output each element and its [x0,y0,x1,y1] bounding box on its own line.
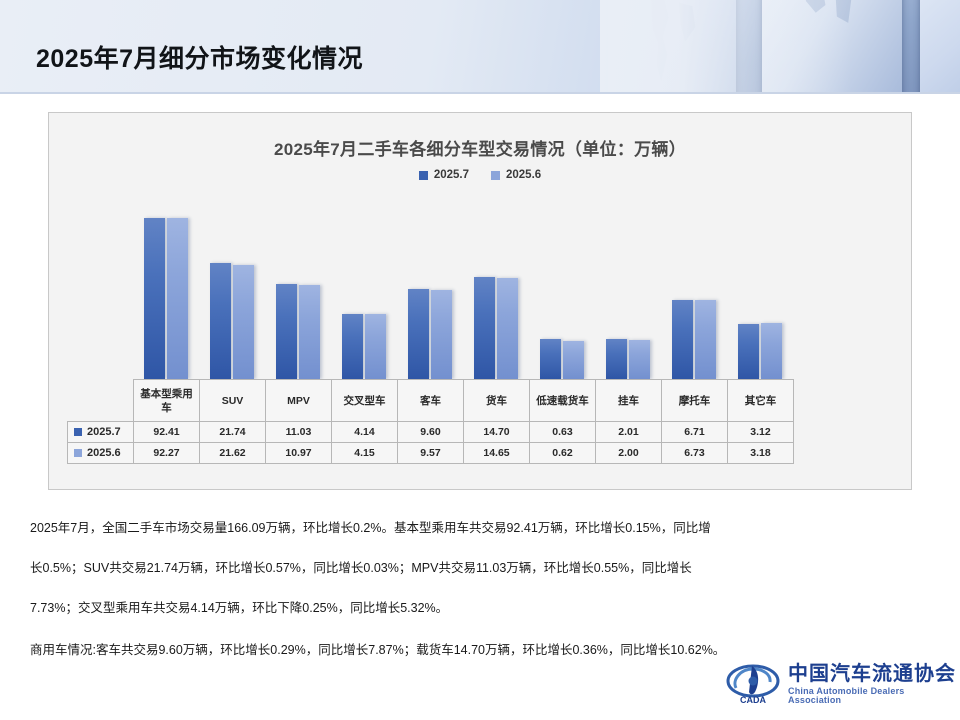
bar-2025-6[interactable] [233,265,254,379]
chart-panel: 2025年7月二手车各细分车型交易情况（单位：万辆） 2025.7 2025.6… [48,112,912,490]
bar-2025-6[interactable] [761,323,782,379]
table-cell-value: 0.62 [530,443,596,464]
table-column-header: 客车 [398,380,464,422]
summary-line-1: 2025年7月，全国二手车市场交易量166.09万辆，环比增长0.2%。基本型乘… [30,508,930,548]
table-cell-value: 3.12 [728,422,794,443]
table-column-header: MPV [266,380,332,422]
bar-2025-7[interactable] [606,339,627,379]
chart-legend: 2025.7 2025.6 [49,169,911,181]
header-divider [0,92,960,94]
series-swatch-icon [74,428,82,436]
bar-2025-6[interactable] [497,278,518,379]
legend-item-2025-6[interactable]: 2025.6 [491,169,541,181]
legend-label: 2025.7 [434,169,469,181]
bar-2025-6[interactable] [167,218,188,379]
table-cell-value: 10.97 [266,443,332,464]
chart-plot-area [133,201,893,379]
bar-group [265,201,331,379]
table-cell-value: 4.15 [332,443,398,464]
table-cell-value: 92.27 [134,443,200,464]
cada-emblem-icon: CADA [726,662,780,706]
chart-title: 2025年7月二手车各细分车型交易情况（单位：万辆） [49,135,911,160]
page-header: 2025年7月细分市场变化情况 [0,0,960,92]
table-row: 2025.692.2721.6210.974.159.5714.650.622.… [68,443,794,464]
bar-2025-7[interactable] [144,218,165,379]
header-decoration-image [600,0,960,92]
bar-2025-6[interactable] [695,300,716,379]
svg-text:CADA: CADA [740,695,766,705]
table-cell-value: 3.18 [728,443,794,464]
table-column-header: SUV [200,380,266,422]
chart-data-table: 基本型乘用车SUVMPV交叉型车客车货车低速载货车挂车摩托车其它车2025.79… [67,379,794,464]
bar-2025-7[interactable] [474,277,495,379]
bar-group [199,201,265,379]
table-row-header: 2025.6 [68,443,134,464]
bar-group [463,201,529,379]
table-cell-value: 4.14 [332,422,398,443]
bar-2025-7[interactable] [342,314,363,379]
series-swatch-icon [74,449,82,457]
table-column-header: 其它车 [728,380,794,422]
table-cell-value: 9.57 [398,443,464,464]
summary-text: 2025年7月，全国二手车市场交易量166.09万辆，环比增长0.2%。基本型乘… [30,508,930,670]
legend-swatch-icon [419,171,428,180]
bar-group [331,201,397,379]
table-cell-value: 2.00 [596,443,662,464]
summary-line-3: 7.73%；交叉型乘用车共交易4.14万辆，环比下降0.25%，同比增长5.32… [30,588,930,628]
table-cell-value: 11.03 [266,422,332,443]
legend-label: 2025.6 [506,169,541,181]
bar-2025-6[interactable] [629,340,650,379]
table-cell-value: 2.01 [596,422,662,443]
bar-2025-6[interactable] [299,285,320,379]
bar-group [595,201,661,379]
table-cell-value: 6.73 [662,443,728,464]
header-gradient-overlay [600,0,960,92]
table-column-header: 货车 [464,380,530,422]
table-column-header: 挂车 [596,380,662,422]
table-cell-value: 21.62 [200,443,266,464]
bar-2025-7[interactable] [672,300,693,379]
bar-2025-6[interactable] [563,341,584,379]
bar-2025-7[interactable] [276,284,297,379]
table-cell-value: 9.60 [398,422,464,443]
bar-2025-7[interactable] [408,289,429,379]
bar-2025-7[interactable] [210,263,231,379]
bar-group [661,201,727,379]
table-cell-value: 0.63 [530,422,596,443]
bar-2025-7[interactable] [738,324,759,379]
legend-item-2025-7[interactable]: 2025.7 [419,169,469,181]
logo-english-name: China Automobile Dealers Association [788,687,960,705]
logo-wordmark: 中国汽车流通协会 China Automobile Dealers Associ… [788,664,960,705]
series-label: 2025.6 [87,447,121,459]
cada-logo: CADA 中国汽车流通协会 China Automobile Dealers A… [726,662,960,706]
series-label: 2025.7 [87,426,121,438]
table-row: 2025.792.4121.7411.034.149.6014.700.632.… [68,422,794,443]
table-column-header: 交叉型车 [332,380,398,422]
table-cell-value: 14.70 [464,422,530,443]
bar-2025-7[interactable] [540,339,561,379]
bar-2025-6[interactable] [365,314,386,379]
table-column-header: 低速载货车 [530,380,596,422]
table-cell-value: 92.41 [134,422,200,443]
bar-group [133,201,199,379]
table-cell-value: 14.65 [464,443,530,464]
bar-group [727,201,793,379]
bar-2025-6[interactable] [431,290,452,379]
table-cell-value: 6.71 [662,422,728,443]
table-column-header: 摩托车 [662,380,728,422]
summary-line-2: 长0.5%；SUV共交易21.74万辆，环比增长0.57%，同比增长0.03%；… [30,548,930,588]
bar-group [529,201,595,379]
table-corner-cell [68,380,134,422]
page-title: 2025年7月细分市场变化情况 [36,39,363,75]
logo-chinese-name: 中国汽车流通协会 [788,664,960,684]
table-cell-value: 21.74 [200,422,266,443]
table-column-header: 基本型乘用车 [134,380,200,422]
legend-swatch-icon [491,171,500,180]
table-row-header: 2025.7 [68,422,134,443]
bar-group [397,201,463,379]
table-header-row: 基本型乘用车SUVMPV交叉型车客车货车低速载货车挂车摩托车其它车 [68,380,794,422]
